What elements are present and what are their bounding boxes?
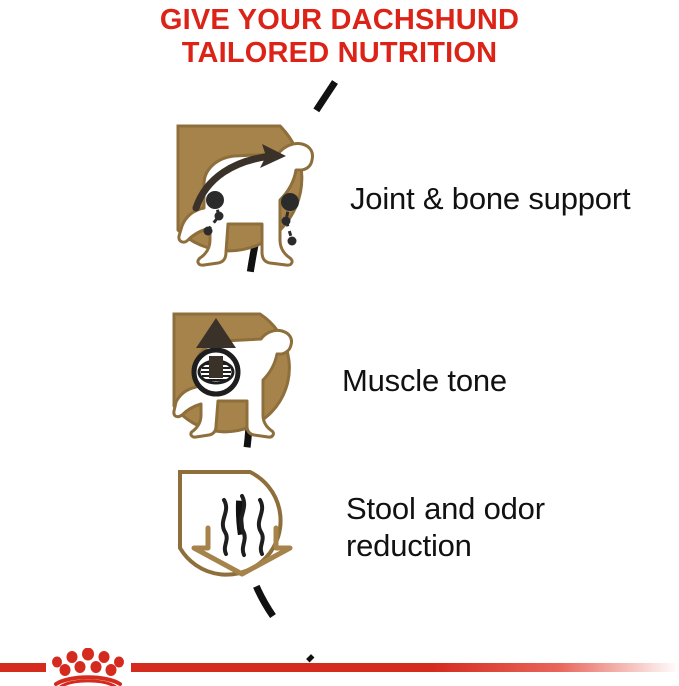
headline-line-1: GIVE YOUR DACHSHUND <box>0 4 679 37</box>
red-rule-right <box>131 663 679 672</box>
benefit-row-muscle-tone: Muscle tone <box>160 300 660 460</box>
benefit-row-joint-bone-support: Joint & bone support <box>160 112 660 284</box>
headline-line-2: TAILORED NUTRITION <box>0 37 679 70</box>
dog-joint-support-icon <box>160 112 332 284</box>
red-rule-left <box>0 663 46 672</box>
stool-odor-reduction-icon <box>168 462 318 592</box>
benefit-row-stool-odor-reduction: Stool and odor reduction <box>160 462 660 592</box>
benefit-label-joint-bone-support: Joint & bone support <box>350 180 630 217</box>
royal-canin-crown-icon <box>48 648 128 686</box>
page-title: GIVE YOUR DACHSHUND TAILORED NUTRITION <box>0 4 679 70</box>
footer-brand-bar <box>0 636 679 686</box>
benefit-label-line: Stool and odor reduction <box>346 491 545 563</box>
benefit-label-muscle-tone: Muscle tone <box>342 362 507 399</box>
benefit-label-stool-odor-reduction: Stool and odor reduction <box>346 490 660 564</box>
dog-muscle-tone-icon <box>160 300 328 460</box>
product-benefits-infographic: GIVE YOUR DACHSHUND TAILORED NUTRITION <box>0 0 679 686</box>
